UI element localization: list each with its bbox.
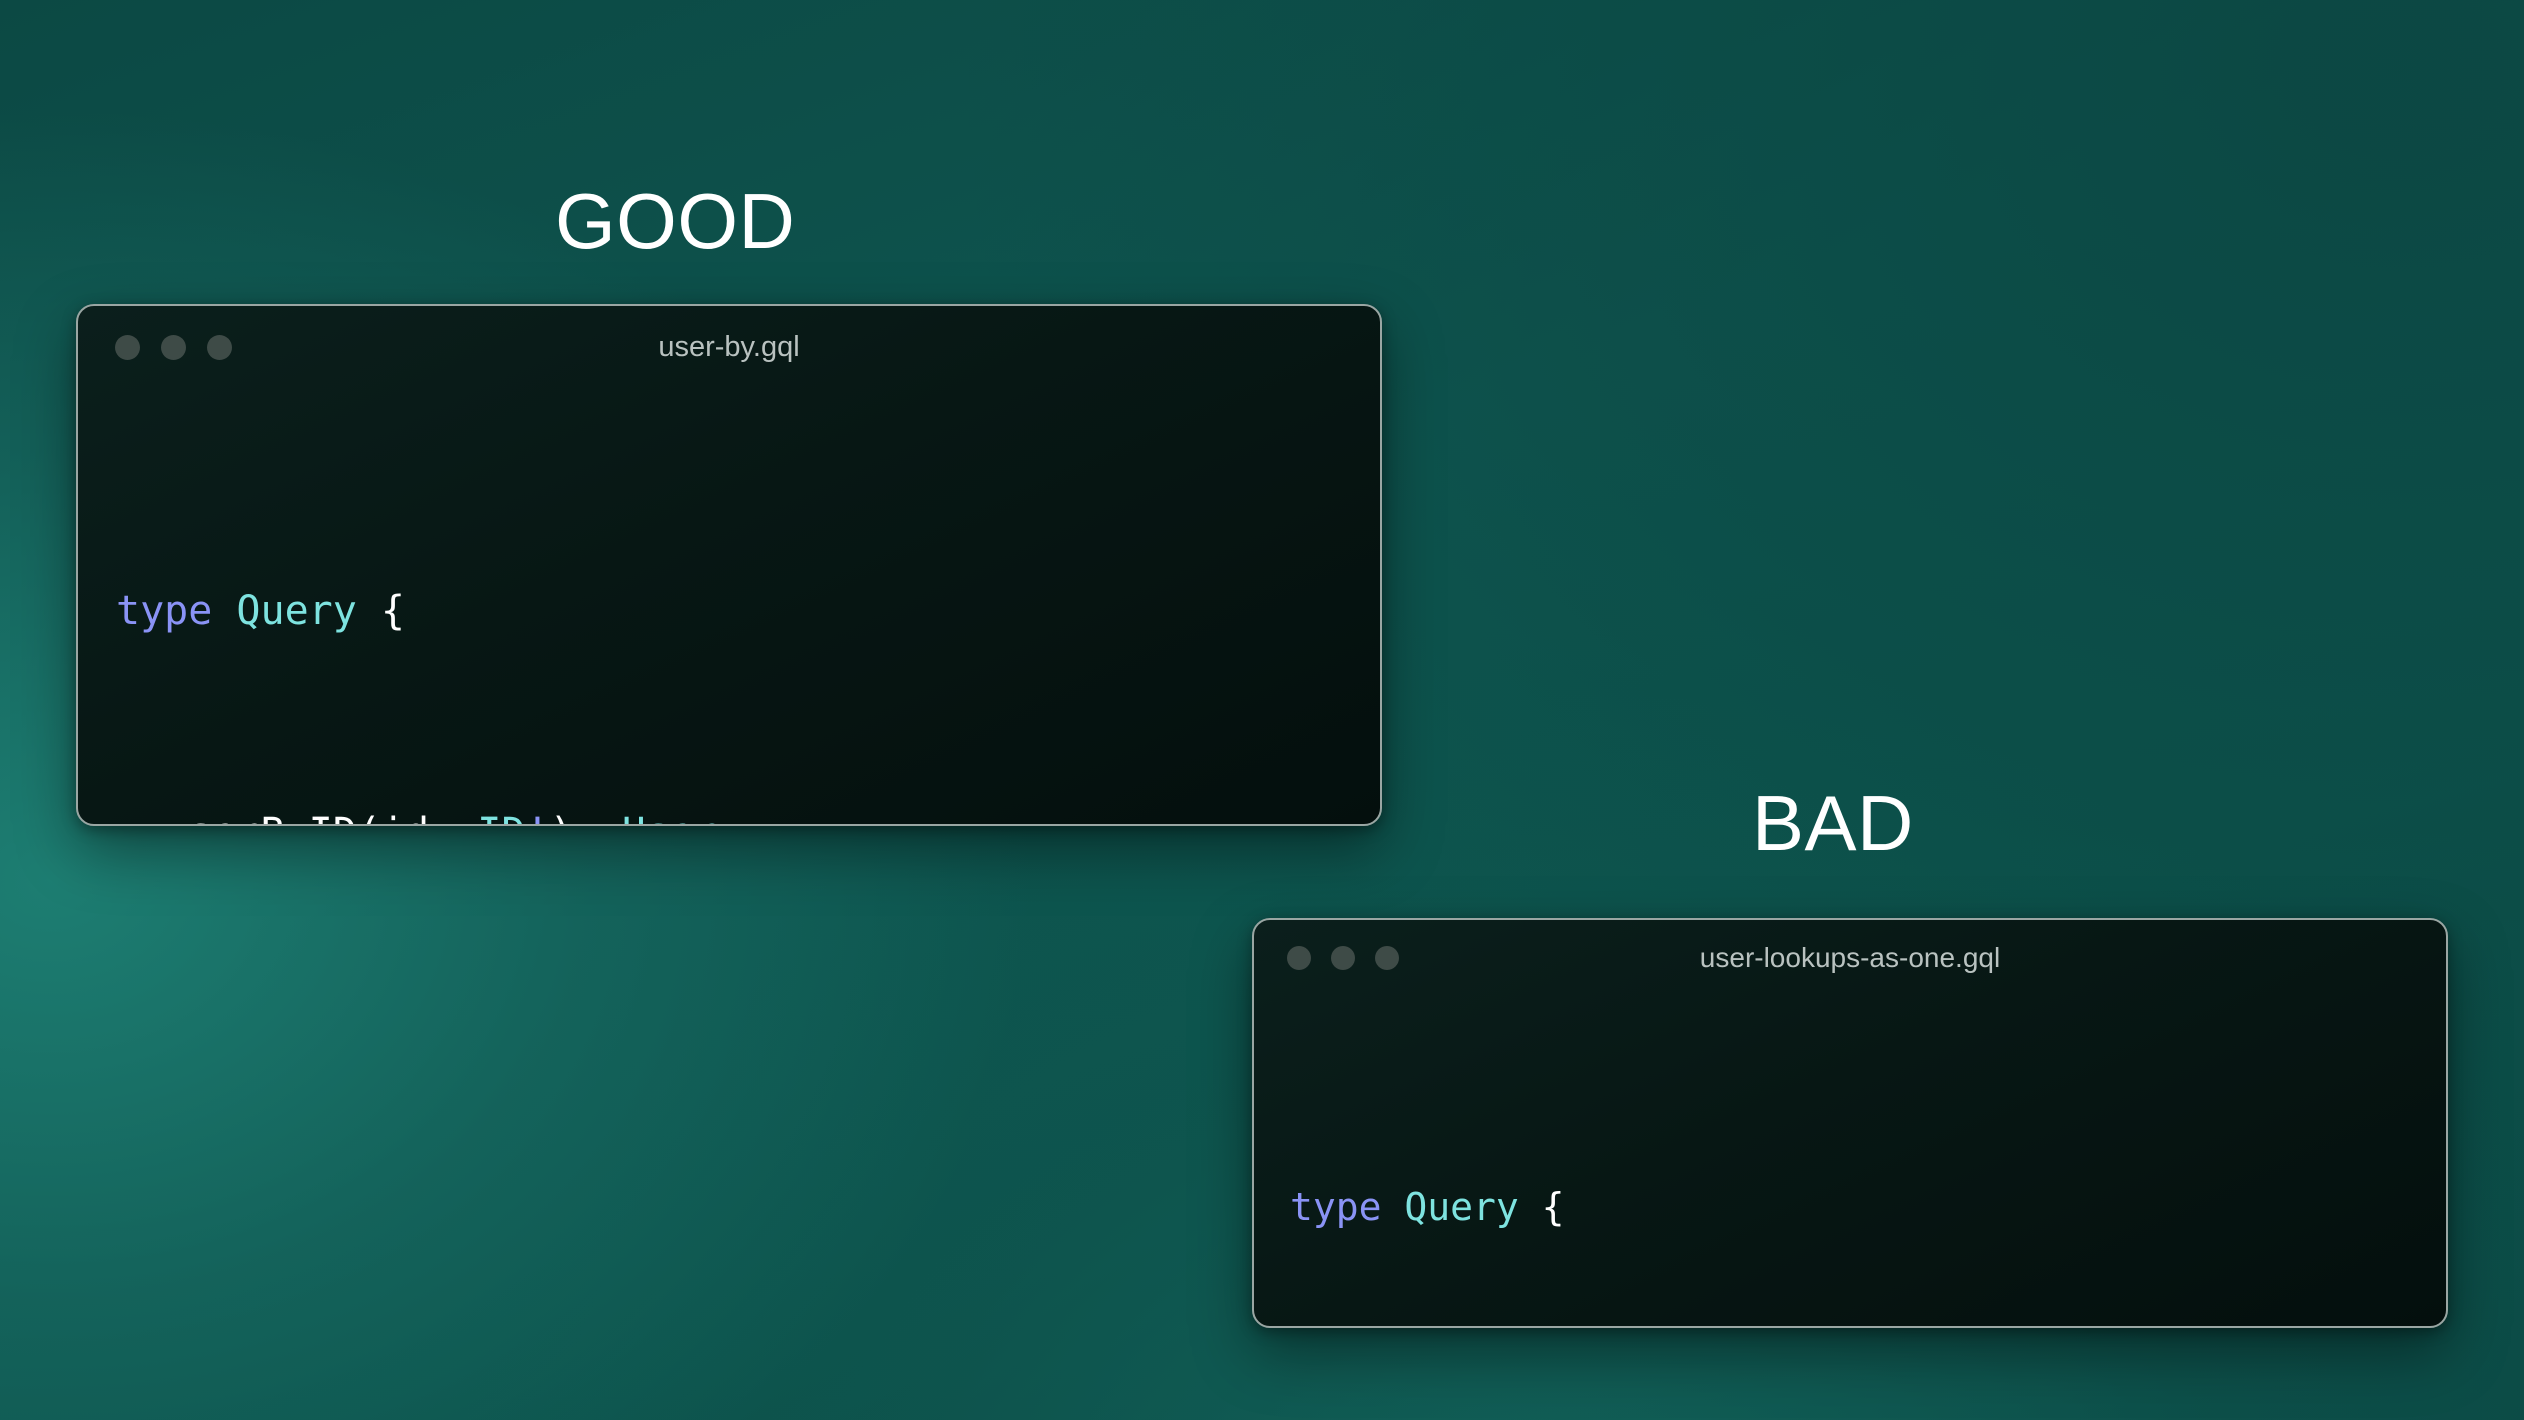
code-token: userByID(id:: [116, 810, 477, 826]
code-token: type: [116, 588, 212, 634]
good-heading: GOOD: [555, 182, 795, 260]
titlebar-good: user-by.gql: [78, 306, 1380, 388]
titlebar-bad: user-lookups-as-one.gql: [1254, 920, 2446, 996]
filename-label-bad: user-lookups-as-one.gql: [1254, 942, 2446, 974]
code-token: Query: [1404, 1185, 1518, 1229]
code-block-good: type Query { userByID(id: ID!): User use…: [78, 388, 1380, 826]
code-line: userByID(id: ID!): User: [116, 796, 1380, 826]
close-dot-icon[interactable]: [115, 335, 140, 360]
traffic-lights-bad: [1287, 946, 1399, 970]
code-line: type Query {: [116, 574, 1380, 648]
code-block-bad: type Query { user(id: ID, ssn: String): …: [1254, 996, 2446, 1328]
bad-heading: BAD: [1752, 784, 1914, 862]
traffic-lights-good: [115, 335, 232, 360]
minimize-dot-icon[interactable]: [1331, 946, 1355, 970]
maximize-dot-icon[interactable]: [1375, 946, 1399, 970]
code-window-good: user-by.gql type Query { userByID(id: ID…: [76, 304, 1382, 826]
filename-label-good: user-by.gql: [78, 331, 1380, 364]
code-token: [1382, 1185, 1405, 1229]
code-token: type: [1290, 1185, 1382, 1229]
close-dot-icon[interactable]: [1287, 946, 1311, 970]
code-token: ):: [550, 810, 622, 826]
code-token: User: [622, 810, 718, 826]
code-token: [212, 588, 236, 634]
code-token: Query: [236, 588, 356, 634]
code-line: type Query {: [1290, 1172, 2446, 1242]
code-token: !: [525, 810, 549, 826]
code-token: {: [1519, 1185, 1565, 1229]
code-token: ID: [477, 810, 525, 826]
code-token: {: [357, 588, 405, 634]
minimize-dot-icon[interactable]: [161, 335, 186, 360]
code-window-bad: user-lookups-as-one.gql type Query { use…: [1252, 918, 2448, 1328]
maximize-dot-icon[interactable]: [207, 335, 232, 360]
